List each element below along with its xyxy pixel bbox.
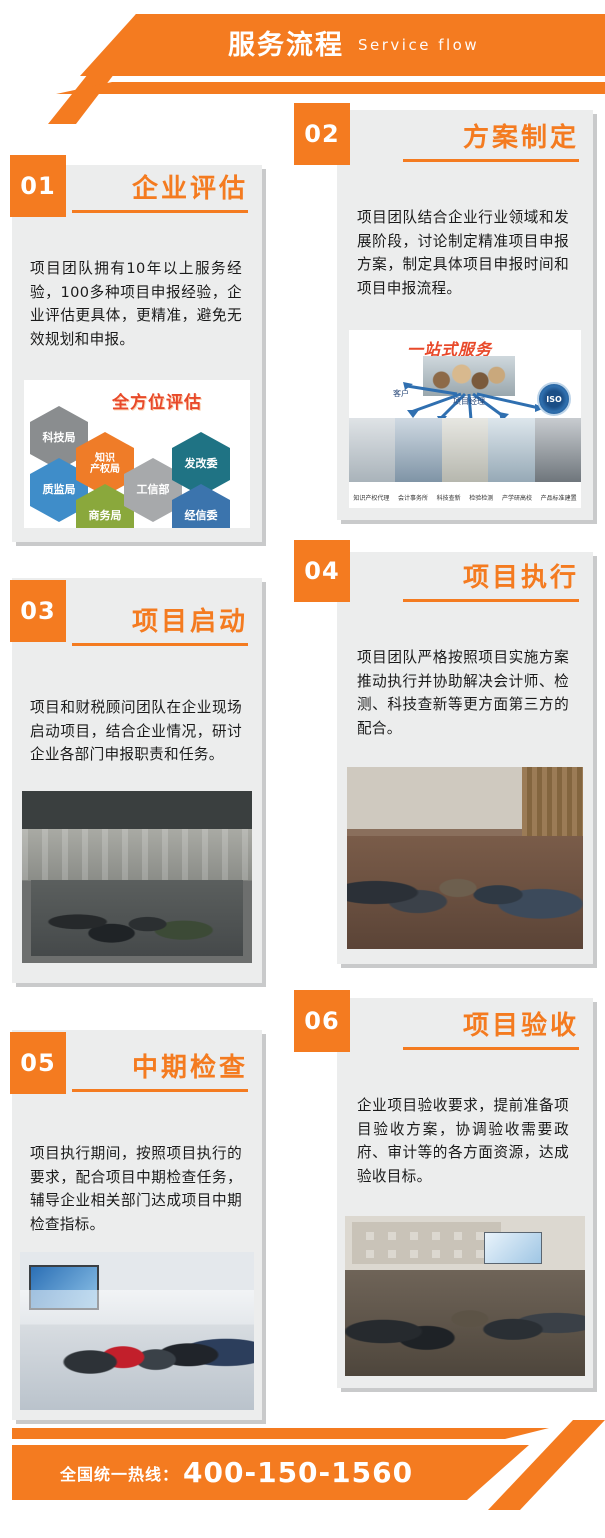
page-title: 服务流程 — [228, 32, 344, 59]
card-title-underline — [403, 599, 579, 602]
card-body-06: 企业项目验收要求，提前准备项目验收方案，协调验收需要政府、审计等的各方面资源，达… — [357, 1094, 569, 1189]
process-card-01: 企业评估 项目团队拥有10年以上服务经验，100多种项目申报经验，企业评估更具体… — [12, 165, 262, 542]
onestop-node-customer: 客户 — [393, 388, 409, 399]
card-title-block-06: 项目验收 — [403, 1012, 579, 1050]
card-body-02: 项目团队结合企业行业领域和发展阶段，讨论制定精准项目申报方案，制定具体项目申报时… — [357, 206, 569, 301]
page-subtitle: Service flow — [358, 38, 479, 53]
hex-diagram-title: 全方位评估 — [112, 388, 202, 413]
onestop-label-1: 知识产权代理 — [353, 493, 389, 502]
card-photo-06 — [345, 1216, 585, 1376]
card-title-block-01: 企业评估 — [72, 175, 248, 213]
card-title-04: 项目执行 — [403, 564, 579, 593]
strip-photo-2 — [395, 418, 441, 482]
card-title-underline — [403, 1047, 579, 1050]
card-title-block-02: 方案制定 — [403, 124, 579, 162]
card-body-04: 项目团队严格按照项目实施方案推动执行并协助解决会计师、检测、科技查新等更方面第三… — [357, 646, 569, 741]
card-title-block-04: 项目执行 — [403, 564, 579, 602]
card-title-01: 企业评估 — [72, 175, 248, 204]
hex-diagram: 全方位评估 科技局 质监局 知识 产权局 商务局 工信部 发改委 经信委 — [24, 380, 250, 528]
onestop-label-row: 知识产权代理 会计事务所 科技查新 检验检测 产学研高校 产品标准建置 — [349, 493, 581, 502]
card-title-03: 项目启动 — [72, 608, 248, 637]
card-badge-04: 04 — [294, 540, 350, 602]
card-body-01: 项目团队拥有10年以上服务经验，100多种项目申报经验，企业评估更具体，更精准，… — [30, 257, 242, 352]
strip-photo-1 — [349, 418, 395, 482]
onestop-label-6: 产品标准建置 — [541, 493, 577, 502]
card-badge-05: 05 — [10, 1032, 66, 1094]
card-photo-03 — [22, 791, 252, 963]
process-card-02: 方案制定 项目团队结合企业行业领域和发展阶段，讨论制定精准项目申报方案，制定具体… — [337, 110, 593, 520]
process-card-06: 项目验收 企业项目验收要求，提前准备项目验收方案，协调验收需要政府、审计等的各方… — [337, 998, 593, 1388]
card-title-underline — [72, 643, 248, 646]
onestop-service-diagram: 一站式服务 客户 项目经理 ISO — [349, 330, 581, 508]
hotline-label: 全国统一热线： — [60, 1461, 179, 1485]
card-title-06: 项目验收 — [403, 1012, 579, 1041]
infographic-page: 服务流程 Service flow 企业评估 项目团队拥有10年以上服务经验，1… — [0, 0, 605, 1538]
hotline-number[interactable]: 400-150-1560 — [183, 1456, 413, 1489]
footer-accent-stripe — [12, 1428, 605, 1439]
card-title-underline — [403, 159, 579, 162]
page-footer: 全国统一热线： 400-150-1560 — [0, 1428, 605, 1538]
card-badge-06: 06 — [294, 990, 350, 1052]
card-body-03: 项目和财税顾问团队在企业现场启动项目，结合企业情况，研讨企业各部门申报职责和任务… — [30, 696, 242, 767]
page-header: 服务流程 Service flow — [0, 0, 605, 110]
iso-certification-icon: ISO — [537, 382, 571, 416]
onestop-label-3: 科技查新 — [437, 493, 461, 502]
onestop-node-manager: 项目经理 — [453, 396, 485, 407]
card-title-02: 方案制定 — [403, 124, 579, 153]
card-badge-02: 02 — [294, 103, 350, 165]
strip-photo-5 — [535, 418, 581, 482]
header-title-group: 服务流程 Service flow — [0, 14, 605, 76]
card-photo-04 — [347, 767, 583, 949]
projector-screen — [484, 1232, 542, 1264]
card-photo-05 — [20, 1252, 254, 1410]
hotline-group: 全国统一热线： 400-150-1560 — [12, 1445, 529, 1500]
card-badge-03: 03 — [10, 580, 66, 642]
card-badge-01: 01 — [10, 155, 66, 217]
onestop-label-5: 产学研高校 — [502, 493, 532, 502]
card-title-05: 中期检查 — [72, 1054, 248, 1083]
strip-photo-3 — [442, 418, 488, 482]
card-body-05: 项目执行期间，按照项目执行的要求，配合项目中期检查任务，辅导企业相关部门达成项目… — [30, 1142, 242, 1237]
card-title-block-05: 中期检查 — [72, 1054, 248, 1092]
onestop-label-2: 会计事务所 — [398, 493, 428, 502]
card-title-underline — [72, 210, 248, 213]
onestop-photo-strip — [349, 418, 581, 482]
card-title-block-03: 项目启动 — [72, 608, 248, 646]
card-title-underline — [72, 1089, 248, 1092]
onestop-label-4: 检验检测 — [469, 493, 493, 502]
strip-photo-4 — [488, 418, 534, 482]
process-card-04: 项目执行 项目团队严格按照项目实施方案推动执行并协助解决会计师、检测、科技查新等… — [337, 552, 593, 964]
